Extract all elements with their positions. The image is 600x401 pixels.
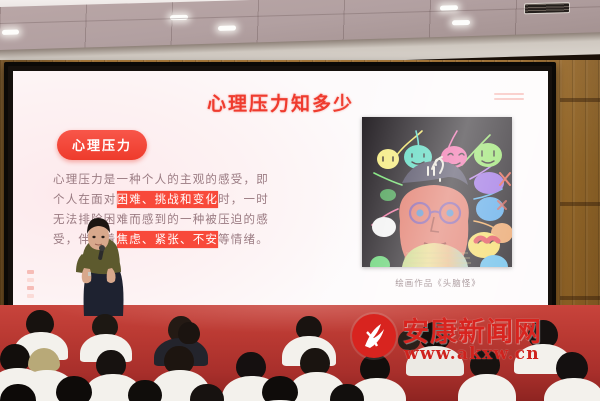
audience-head [178, 322, 200, 344]
wall-seam [560, 202, 600, 206]
ceiling-light [170, 15, 188, 21]
ceiling-light [218, 25, 236, 31]
decorative-lines-icon [494, 93, 524, 103]
artwork-caption: 绘画作品《头脑怪》 [343, 277, 533, 289]
body-text-run: 心理压力是一种个人的主观的感受，即 [53, 172, 269, 186]
slide-body-line: 心理压力是一种个人的主观的感受，即 [53, 169, 358, 189]
ceiling-light [440, 5, 458, 11]
wall-seam [560, 98, 600, 102]
audience-head [56, 376, 92, 401]
watermark: 安康新闻网 www.akxw.cn [352, 310, 596, 372]
bird-logo-icon [352, 314, 396, 358]
decorative-dots-icon [27, 270, 34, 302]
watermark-url: www.akxw.cn [404, 344, 540, 364]
slide-title: 心理压力知多少 [13, 89, 548, 116]
ceiling-light [452, 20, 470, 26]
air-vent-icon [524, 2, 570, 14]
body-text-run: 等情绪。 [218, 232, 269, 246]
artwork-container [362, 117, 512, 267]
body-text-run: 时，一时 [218, 192, 269, 206]
audience-head [262, 376, 298, 401]
ceiling-light [2, 29, 19, 34]
audience-shoulder [458, 374, 516, 401]
scratch-art-image [362, 117, 512, 267]
section-badge: 心理压力 [57, 130, 147, 160]
audience-shoulder [544, 378, 600, 401]
audience-head [190, 384, 224, 401]
photo-scene: 心理压力知多少 心理压力 心理压力是一种个人的主观的感受，即个人在面对困难、挑战… [0, 0, 600, 401]
artwork-svg [362, 117, 512, 267]
